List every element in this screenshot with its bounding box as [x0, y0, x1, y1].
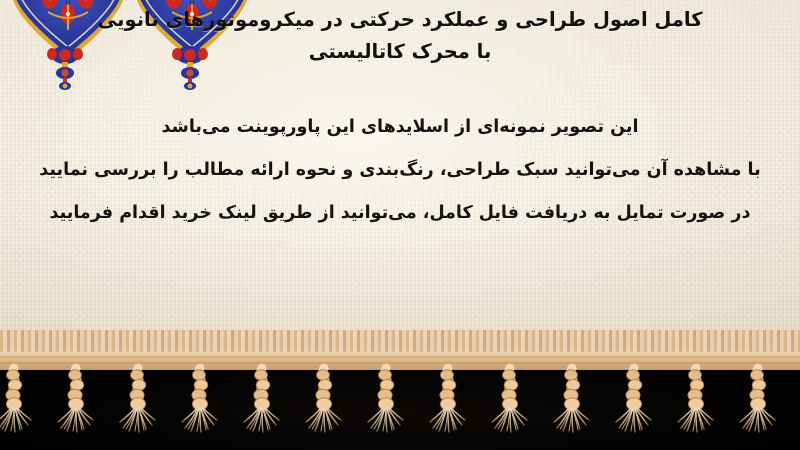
carpet-fringe: [0, 352, 800, 450]
title-line-2: با محرک کاتالیستی: [0, 36, 800, 68]
slide-canvas: کامل اصول طراحی و عملکرد حرکتی در میکروم…: [0, 0, 800, 450]
slide-body-text: این تصویر نمونه‌ای از اسلایدهای این پاور…: [0, 106, 800, 235]
body-line-2: با مشاهده آن می‌توانید سبک طراحی، رنگ‌بن…: [0, 149, 800, 192]
body-line-1: این تصویر نمونه‌ای از اسلایدهای این پاور…: [0, 106, 800, 149]
title-line-1: کامل اصول طراحی و عملکرد حرکتی در میکروم…: [0, 4, 800, 36]
slide-title: کامل اصول طراحی و عملکرد حرکتی در میکروم…: [0, 4, 800, 68]
body-line-3: در صورت تمایل به دریافت فایل کامل، می‌تو…: [0, 192, 800, 235]
